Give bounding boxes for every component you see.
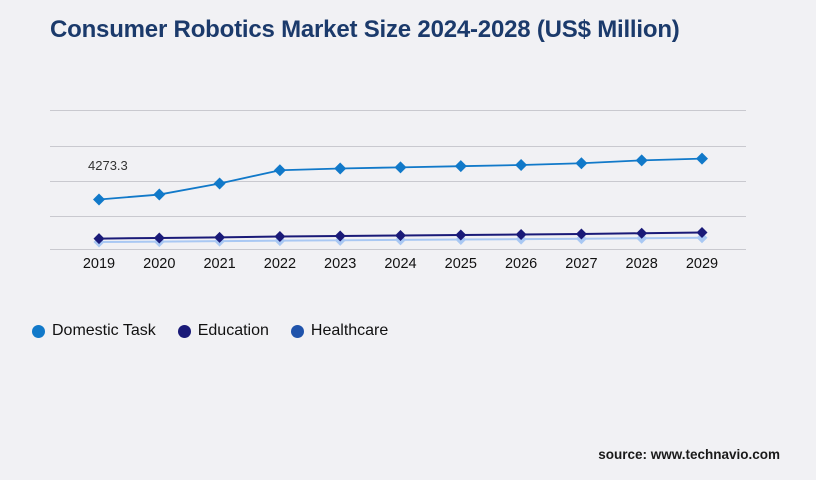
- gridline: [50, 181, 746, 182]
- legend-swatch-icon: [291, 325, 304, 338]
- legend-item-healthcare[interactable]: Healthcare: [291, 322, 388, 340]
- x-axis-tick-label: 2020: [143, 256, 175, 272]
- x-axis-tick-label: 2027: [565, 256, 597, 272]
- data-point-label: 4273.3: [88, 158, 128, 173]
- gridline: [50, 216, 746, 217]
- x-axis-tick-label: 2029: [686, 256, 718, 272]
- gridline: [50, 146, 746, 147]
- legend-item-domestic-task[interactable]: Domestic Task: [32, 322, 156, 340]
- legend-swatch-icon: [32, 325, 45, 338]
- x-axis-tick-label: 2021: [203, 256, 235, 272]
- gridline: [50, 110, 746, 111]
- legend-item-education[interactable]: Education: [178, 322, 269, 340]
- chart-container: Consumer Robotics Market Size 2024-2028 …: [0, 0, 816, 480]
- source-attribution: source: www.technavio.com: [598, 447, 780, 462]
- x-axis-tick-label: 2026: [505, 256, 537, 272]
- chart-legend: Domestic Task Education Healthcare: [32, 322, 388, 340]
- x-axis-line: [50, 249, 746, 250]
- legend-item-label: Education: [198, 322, 269, 340]
- x-axis-tick-label: 2024: [384, 256, 416, 272]
- page-title: Consumer Robotics Market Size 2024-2028 …: [50, 16, 790, 44]
- legend-item-label: Domestic Task: [52, 322, 156, 340]
- legend-item-label: Healthcare: [311, 322, 388, 340]
- x-axis-tick-label: 2023: [324, 256, 356, 272]
- x-axis-tick-label: 2025: [445, 256, 477, 272]
- plot-area: [50, 100, 746, 250]
- legend-swatch-icon: [178, 325, 191, 338]
- x-axis-tick-label: 2028: [626, 256, 658, 272]
- x-axis-tick-label: 2022: [264, 256, 296, 272]
- x-axis-tick-label: 2019: [83, 256, 115, 272]
